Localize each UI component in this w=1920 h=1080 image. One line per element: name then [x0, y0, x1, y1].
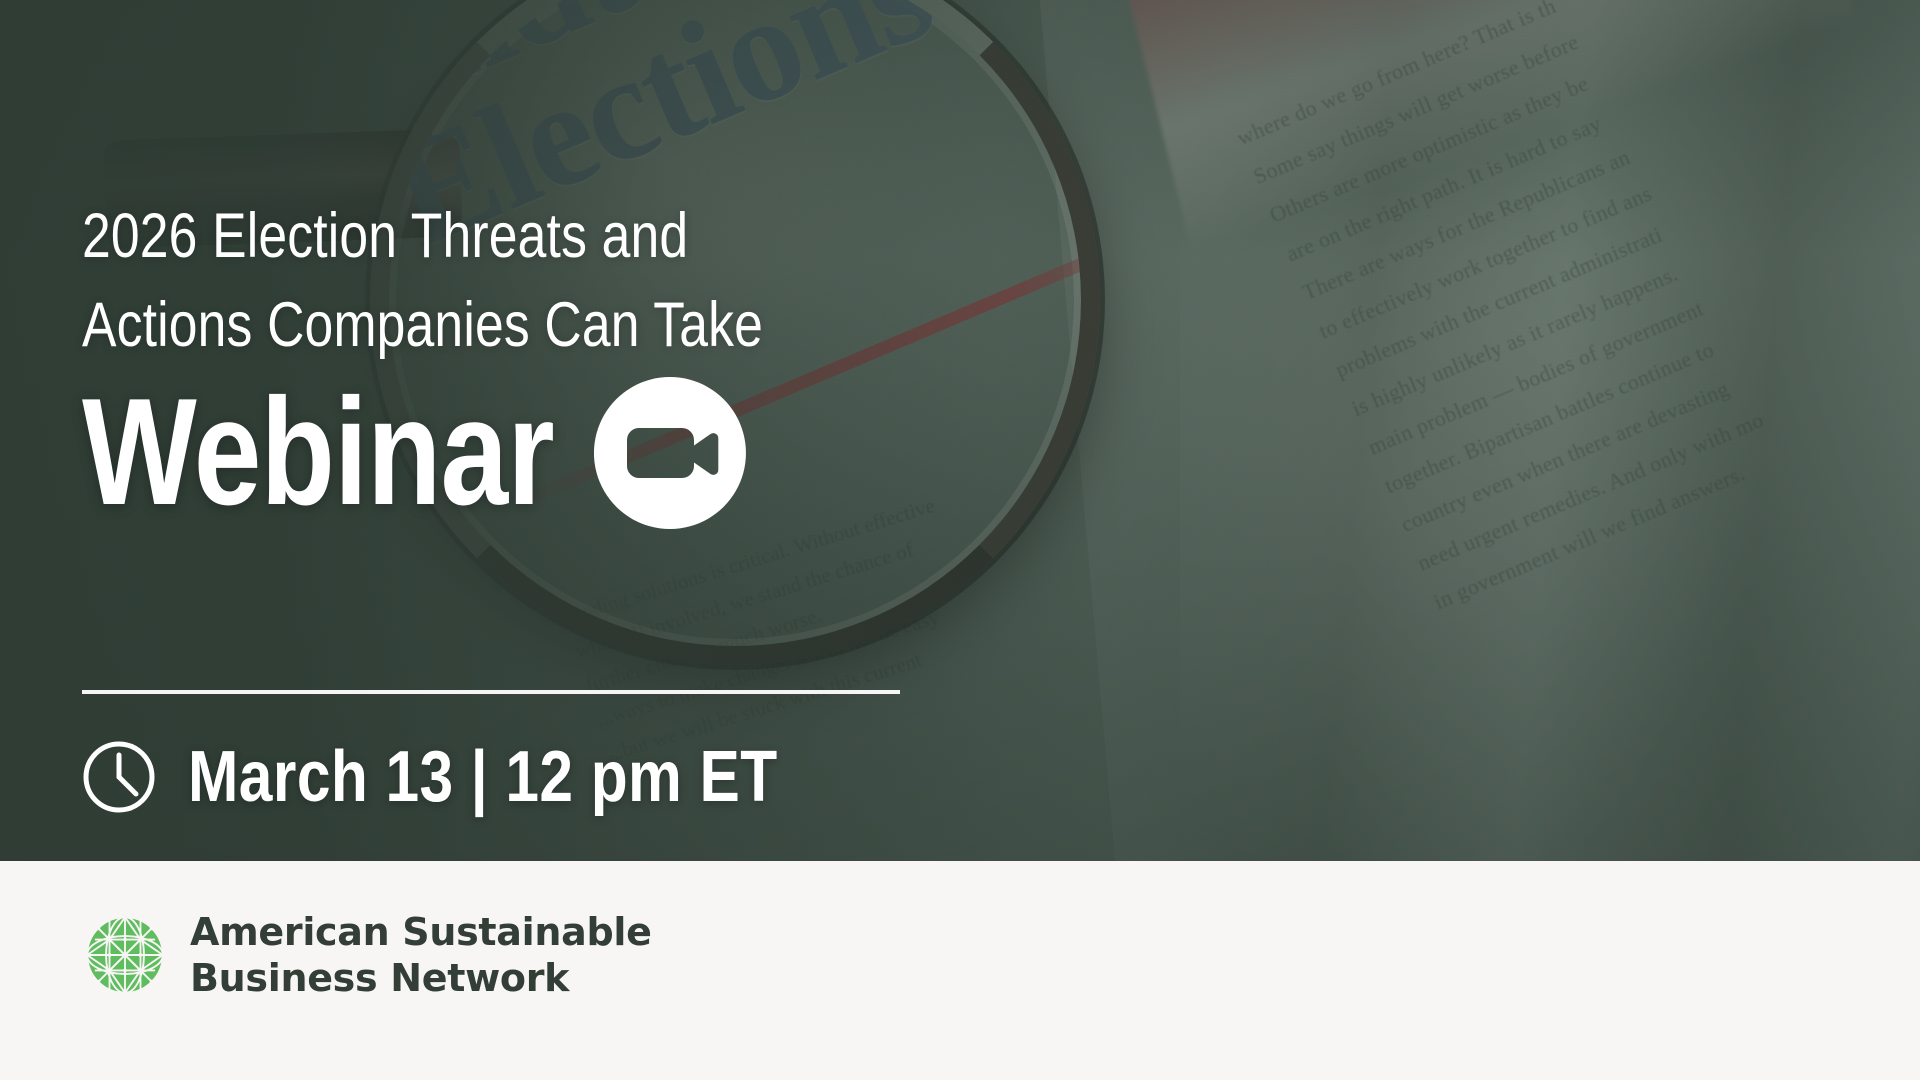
clock-icon	[82, 740, 156, 814]
divider-rule	[82, 690, 900, 694]
headline-line-1: 2026 Election Threats and	[82, 192, 861, 281]
footer-bar: American Sustainable Business Network	[0, 861, 1920, 1080]
schedule-text: March 13 | 12 pm ET	[188, 741, 778, 813]
page-title: 2026 Election Threats and Actions Compan…	[82, 192, 861, 371]
org-name-line-1: American Sustainable	[190, 909, 652, 955]
webinar-promo-graphic: where do we go from here? That is th Som…	[0, 0, 1920, 1080]
schedule-row: March 13 | 12 pm ET	[82, 740, 890, 814]
hero-copy: 2026 Election Threats and Actions Compan…	[82, 0, 1182, 861]
video-camera-icon	[594, 377, 746, 529]
organization-logo[interactable]: American Sustainable Business Network	[82, 909, 652, 1002]
organization-name: American Sustainable Business Network	[190, 909, 652, 1002]
org-name-line-2: Business Network	[190, 955, 652, 1001]
globe-icon	[82, 912, 168, 998]
webinar-label: Webinar	[82, 375, 554, 530]
hero-banner: where do we go from here? That is th Som…	[0, 0, 1920, 861]
webinar-row: Webinar	[82, 375, 746, 530]
headline-line-2: Actions Companies Can Take	[82, 281, 861, 370]
